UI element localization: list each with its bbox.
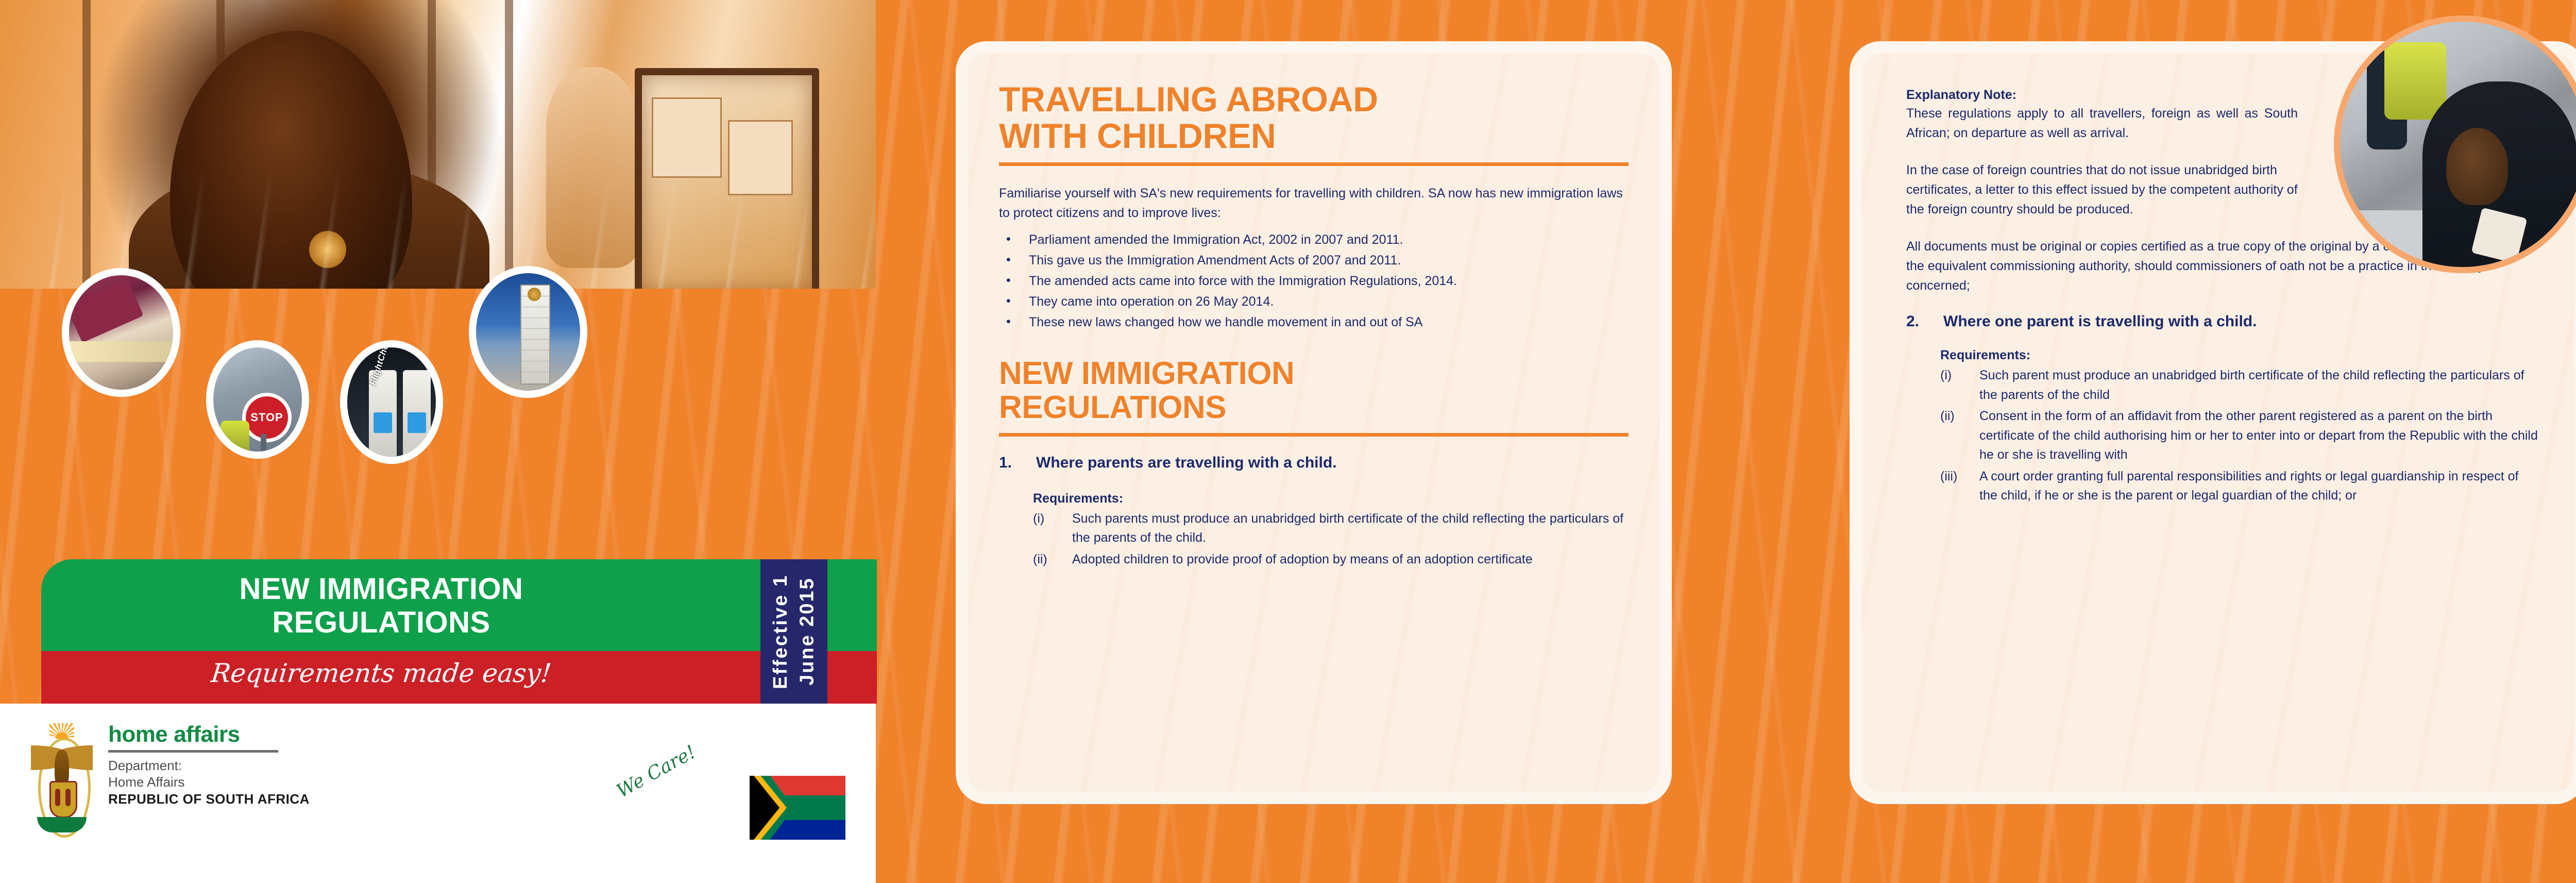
card-a-title: TRAVELLING ABROAD WITH CHILDREN: [999, 81, 1629, 154]
list-item: (iii) A court order granting full parent…: [1940, 467, 2538, 506]
card-a-title-line1: TRAVELLING ABROAD: [999, 80, 1378, 119]
list-item: They came into operation on 26 May 2014.: [999, 292, 1629, 311]
logo-department-line3: REPUBLIC OF SOUTH AFRICA: [108, 791, 310, 807]
card-a-requirements-label: Requirements:: [1033, 491, 1629, 506]
requirement-text: Such parent must produce an unabridged b…: [1979, 366, 2538, 405]
coat-of-arms-icon: [29, 723, 95, 835]
collage-photo-border-stop: STOP: [206, 340, 309, 459]
immigration-officer-photo: [2334, 15, 2576, 273]
item-title: Where one parent is travelling with a ch…: [1943, 313, 2257, 330]
banner-title-line2: REGULATIONS: [41, 606, 721, 640]
card-a-section-title-line1: NEW IMMIGRATION: [999, 356, 1294, 391]
card-b-requirements-label: Requirements:: [1940, 348, 2538, 363]
effective-date-block: Effective 1 June 2015: [760, 559, 827, 704]
requirement-marker: (ii): [1033, 550, 1067, 570]
item-number: 1.: [999, 454, 1021, 472]
collage-photo-border-post: [469, 266, 587, 398]
list-item: (ii) Consent in the form of an affidavit…: [1940, 407, 2538, 465]
card-a-section-title-line2: REGULATIONS: [999, 390, 1226, 425]
left-panel: STOP FlightCheck NEW IMMIGRATION REGULAT…: [0, 0, 876, 883]
hero-immigration-counter-photo: [0, 0, 876, 289]
coat-of-arms-icon: [528, 288, 541, 301]
logo-text-block: home affairs Department: Home Affairs RE…: [108, 723, 310, 807]
card-a-title-line2: WITH CHILDREN: [999, 116, 1276, 156]
card-a-item-heading: 1. Where parents are travelling with a c…: [999, 454, 1629, 472]
banner-title: NEW IMMIGRATION REGULATIONS: [41, 562, 721, 640]
item-title: Where parents are travelling with a chil…: [1036, 454, 1337, 472]
list-item: These new laws changed how we handle mov…: [999, 312, 1629, 332]
card-a-lead-paragraph: Familiarise yourself with SA's new requi…: [999, 184, 1629, 223]
title-divider: [999, 162, 1629, 166]
content-card-travelling-abroad: TRAVELLING ABROAD WITH CHILDREN Familiar…: [956, 41, 1672, 804]
footer-branding: home affairs Department: Home Affairs RE…: [0, 704, 876, 883]
requirement-text: Adopted children to provide proof of ado…: [1072, 550, 1533, 570]
requirement-marker: (iii): [1940, 467, 1974, 487]
card-b-requirements-list: (i) Such parent must produce an unabridg…: [1940, 366, 2538, 506]
south-african-flag-icon: [750, 776, 845, 840]
list-item: (i) Such parent must produce an unabridg…: [1940, 366, 2538, 405]
section-divider: [999, 433, 1629, 437]
stop-sign-icon: STOP: [242, 393, 292, 442]
requirement-marker: (i): [1940, 366, 1974, 386]
requirement-text: Such parents must produce an unabridged …: [1072, 509, 1629, 548]
card-b-note-paragraph-2: In the case of foreign countries that do…: [1906, 160, 2313, 219]
logo-wordmark: home affairs: [108, 723, 310, 746]
collage-photo-airport: [62, 268, 180, 397]
we-care-slogan: We Care!: [613, 741, 700, 802]
list-item: Parliament amended the Immigration Act, …: [999, 230, 1629, 249]
item-number: 2.: [1906, 313, 1928, 330]
officer-face: [2446, 128, 2508, 205]
home-affairs-logo: home affairs Department: Home Affairs RE…: [29, 723, 310, 835]
list-item: The amended acts came into force with th…: [999, 271, 1629, 291]
card-b-item-heading: 2. Where one parent is travelling with a…: [1906, 313, 2538, 330]
list-item: This gave us the Immigration Amendment A…: [999, 251, 1629, 270]
logo-divider: [108, 750, 278, 753]
safety-vest: [2384, 42, 2446, 120]
safety-vest: [221, 421, 249, 452]
stop-sign-label: STOP: [250, 411, 283, 424]
zebra-overlay: [0, 0, 876, 289]
banner-title-line1: NEW IMMIGRATION: [41, 573, 721, 606]
card-a-bullet-list: Parliament amended the Immigration Act, …: [999, 230, 1629, 332]
card-a-section-title: NEW IMMIGRATION REGULATIONS: [999, 357, 1629, 424]
kiosk-right: [403, 370, 431, 464]
card-b-note-paragraph-1: These regulations apply to all traveller…: [1906, 104, 2298, 143]
requirement-marker: (i): [1033, 509, 1067, 529]
requirement-text: Consent in the form of an affidavit from…: [1979, 407, 2538, 465]
card-a-requirements-list: (i) Such parents must produce an unabrid…: [1033, 509, 1629, 570]
requirement-text: A court order granting full parental res…: [1979, 467, 2538, 506]
logo-department-line1: Department:: [108, 758, 310, 774]
list-item: (ii) Adopted children to provide proof o…: [1033, 550, 1629, 570]
collage-photo-kiosks: FlightCheck: [340, 340, 443, 464]
photo-collage: STOP FlightCheck: [0, 247, 876, 469]
requirement-marker: (ii): [1940, 407, 1974, 426]
campaign-banner: NEW IMMIGRATION REGULATIONS Requirements…: [41, 559, 877, 704]
list-item: (i) Such parents must produce an unabrid…: [1033, 509, 1629, 548]
logo-department-line2: Home Affairs: [108, 774, 310, 791]
sign-pole: [261, 434, 266, 459]
banner-tagline: Requirements made easy!: [41, 658, 723, 688]
effective-date-text: Effective 1 June 2015: [768, 559, 821, 704]
